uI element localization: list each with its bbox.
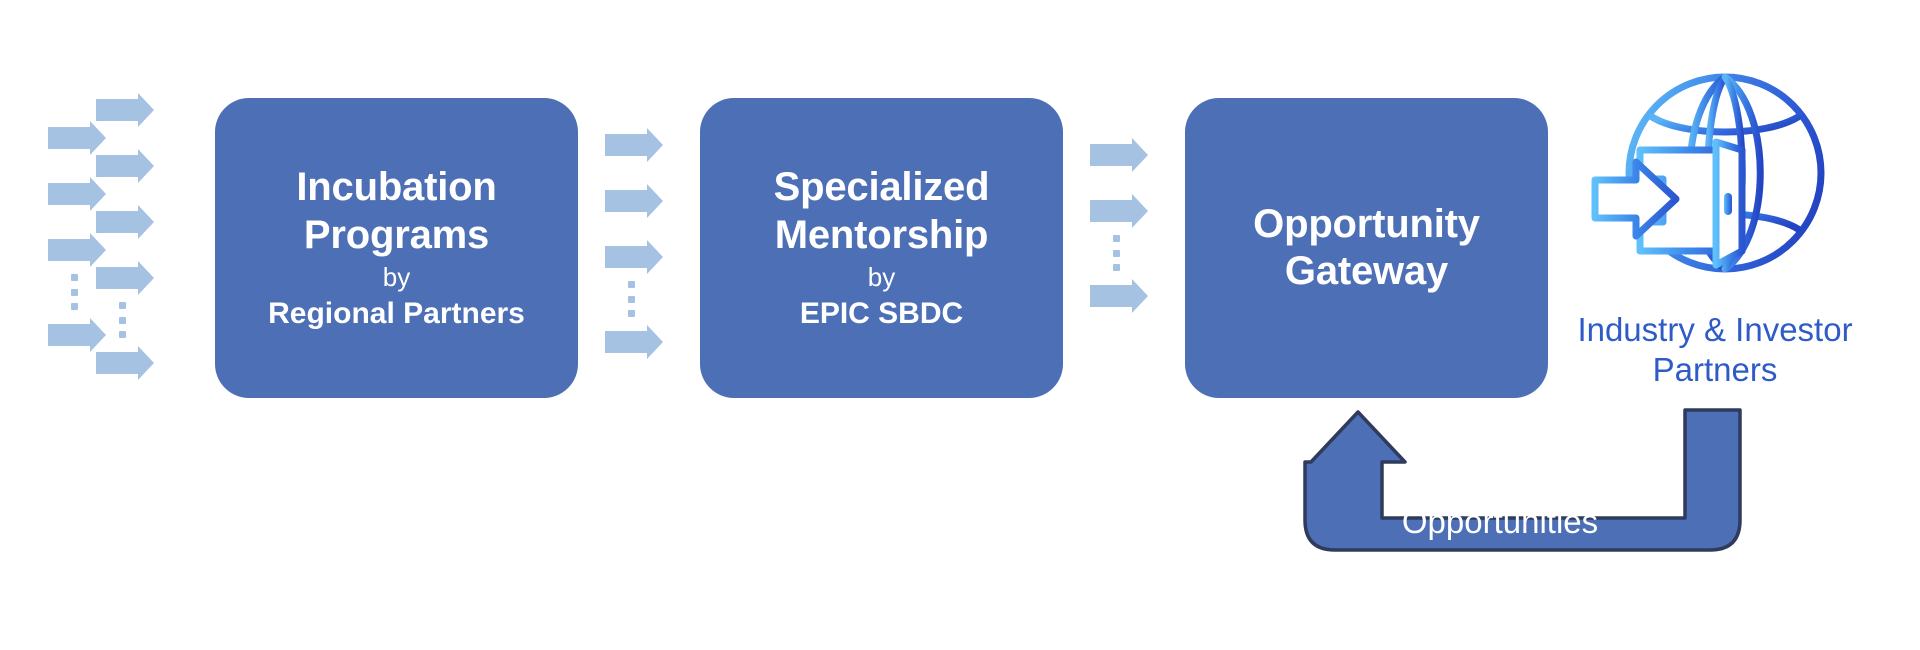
chevron-arrow-icon	[48, 177, 106, 211]
flow-arrow-group-2	[1090, 138, 1160, 298]
globe-door-entry-icon	[1590, 55, 1840, 305]
stage-title: Opportunity	[1253, 201, 1480, 248]
stage-title: Programs	[304, 212, 489, 259]
chevron-arrow-icon	[48, 121, 106, 155]
chevron-arrow-icon	[48, 233, 106, 267]
chevron-arrow-icon	[48, 318, 106, 352]
chevron-arrow-icon	[96, 149, 154, 183]
stage-title: Incubation	[296, 164, 496, 211]
chevron-arrow-icon	[1090, 279, 1148, 313]
ellipsis-vertical-icon	[70, 274, 78, 310]
partner-label-line1: Industry & Investor	[1545, 310, 1885, 350]
partner-node-label: Industry & Investor Partners	[1545, 310, 1885, 391]
stage-connector-word: by	[868, 261, 895, 295]
chevron-arrow-icon	[605, 240, 663, 274]
chevron-arrow-icon	[96, 346, 154, 380]
stage-box-incubation[interactable]: Incubation Programs by Regional Partners	[215, 98, 578, 398]
inflow-arrow-group	[48, 78, 208, 318]
ellipsis-vertical-icon	[1112, 235, 1120, 271]
chevron-arrow-icon	[605, 128, 663, 162]
stage-box-mentorship[interactable]: Specialized Mentorship by EPIC SBDC	[700, 98, 1063, 398]
chevron-arrow-icon	[1090, 194, 1148, 228]
chevron-arrow-icon	[605, 184, 663, 218]
stage-title: Specialized	[774, 164, 990, 211]
diagram-canvas: Incubation Programs by Regional Partners…	[0, 0, 1920, 650]
stage-connector-word: by	[383, 261, 410, 295]
stage-box-gateway[interactable]: Opportunity Gateway	[1185, 98, 1548, 398]
chevron-arrow-icon	[1090, 138, 1148, 172]
chevron-arrow-icon	[96, 205, 154, 239]
chevron-arrow-icon	[605, 325, 663, 359]
ellipsis-vertical-icon	[118, 302, 126, 338]
chevron-arrow-icon	[96, 93, 154, 127]
stage-organization: Regional Partners	[268, 296, 525, 332]
partner-label-line2: Partners	[1545, 350, 1885, 390]
ellipsis-vertical-icon	[627, 281, 635, 317]
flow-arrow-group-1	[605, 128, 675, 318]
stage-title: Gateway	[1285, 248, 1448, 295]
stage-title: Mentorship	[775, 212, 989, 259]
stage-organization: EPIC SBDC	[800, 296, 963, 332]
feedback-arrow	[1300, 400, 1760, 565]
chevron-arrow-icon	[96, 261, 154, 295]
